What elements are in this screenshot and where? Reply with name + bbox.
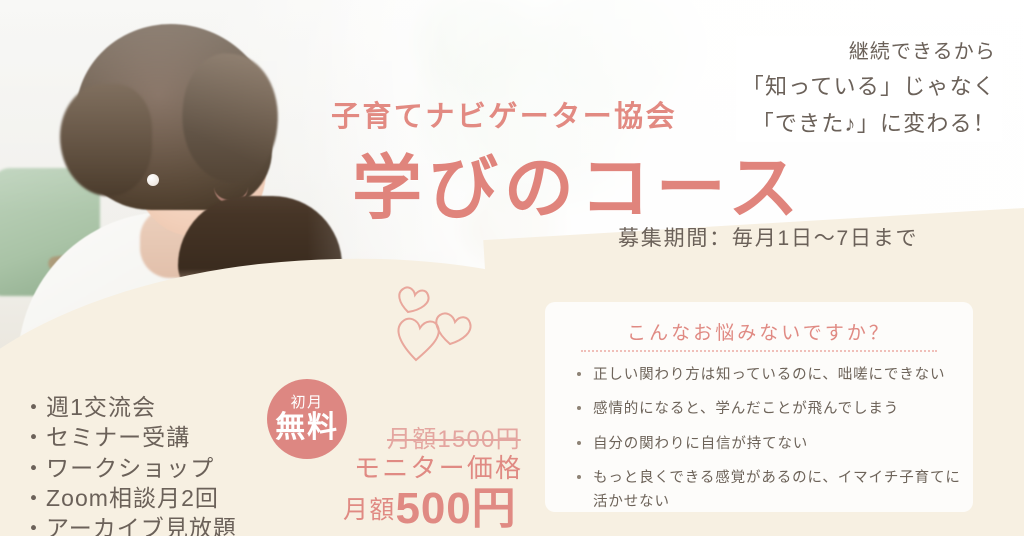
- current-price: 月額500円: [343, 472, 516, 536]
- heart-doodles: [378, 272, 498, 372]
- problems-list: 正しい関わり方は知っているのに、咄嗟にできない 感情的になると、学んだことが飛ん…: [575, 364, 973, 525]
- list-item: 自分の関わりに自信が持てない: [575, 433, 973, 456]
- badge-main-label: 無料: [275, 413, 339, 443]
- list-item: 週1交流会: [22, 392, 237, 422]
- application-period: 募集期間：毎月1日〜7日まで: [618, 222, 918, 252]
- problems-card-title: こんなお悩みないですか？: [545, 318, 973, 345]
- price-unit: 円: [472, 484, 517, 533]
- list-item: 正しい関わり方は知っているのに、咄嗟にできない: [575, 364, 973, 387]
- promo-banner: 継続できるから 「知っている」じゃなく 「できた♪」に変わる！ 子育てナビゲータ…: [0, 0, 1024, 536]
- list-item: アーカイブ見放題: [22, 513, 237, 536]
- list-item: Zoom相談月2回: [22, 483, 237, 513]
- price-prefix: 月額: [343, 496, 396, 524]
- list-item: 感情的になると、学んだことが飛んでしまう: [575, 398, 973, 421]
- list-item: ワークショップ: [22, 453, 237, 483]
- page-title: 学びのコース: [352, 132, 804, 233]
- list-item: もっと良くできる感覚があるのに、イマイチ子育てに活かせない: [575, 467, 973, 514]
- association-name: 子育てナビゲーター協会: [331, 93, 677, 135]
- tagline-line-1: 継続できるから: [736, 36, 1002, 69]
- feature-list: 週1交流会 セミナー受講 ワークショップ Zoom相談月2回 アーカイブ見放題: [22, 392, 237, 536]
- price-amount: 500: [396, 484, 472, 533]
- tagline-line-2: 「知っている」じゃなく: [736, 69, 1002, 105]
- status-badge: 初月 無料: [267, 379, 347, 459]
- dotted-divider: [581, 350, 937, 352]
- tagline-block: 継続できるから 「知っている」じゃなく 「できた♪」に変わる！: [736, 36, 1002, 142]
- badge-top-label: 初月: [291, 395, 324, 410]
- list-item: セミナー受講: [22, 422, 237, 452]
- problems-card: こんなお悩みないですか？ 正しい関わり方は知っているのに、咄嗟にできない 感情的…: [545, 302, 973, 512]
